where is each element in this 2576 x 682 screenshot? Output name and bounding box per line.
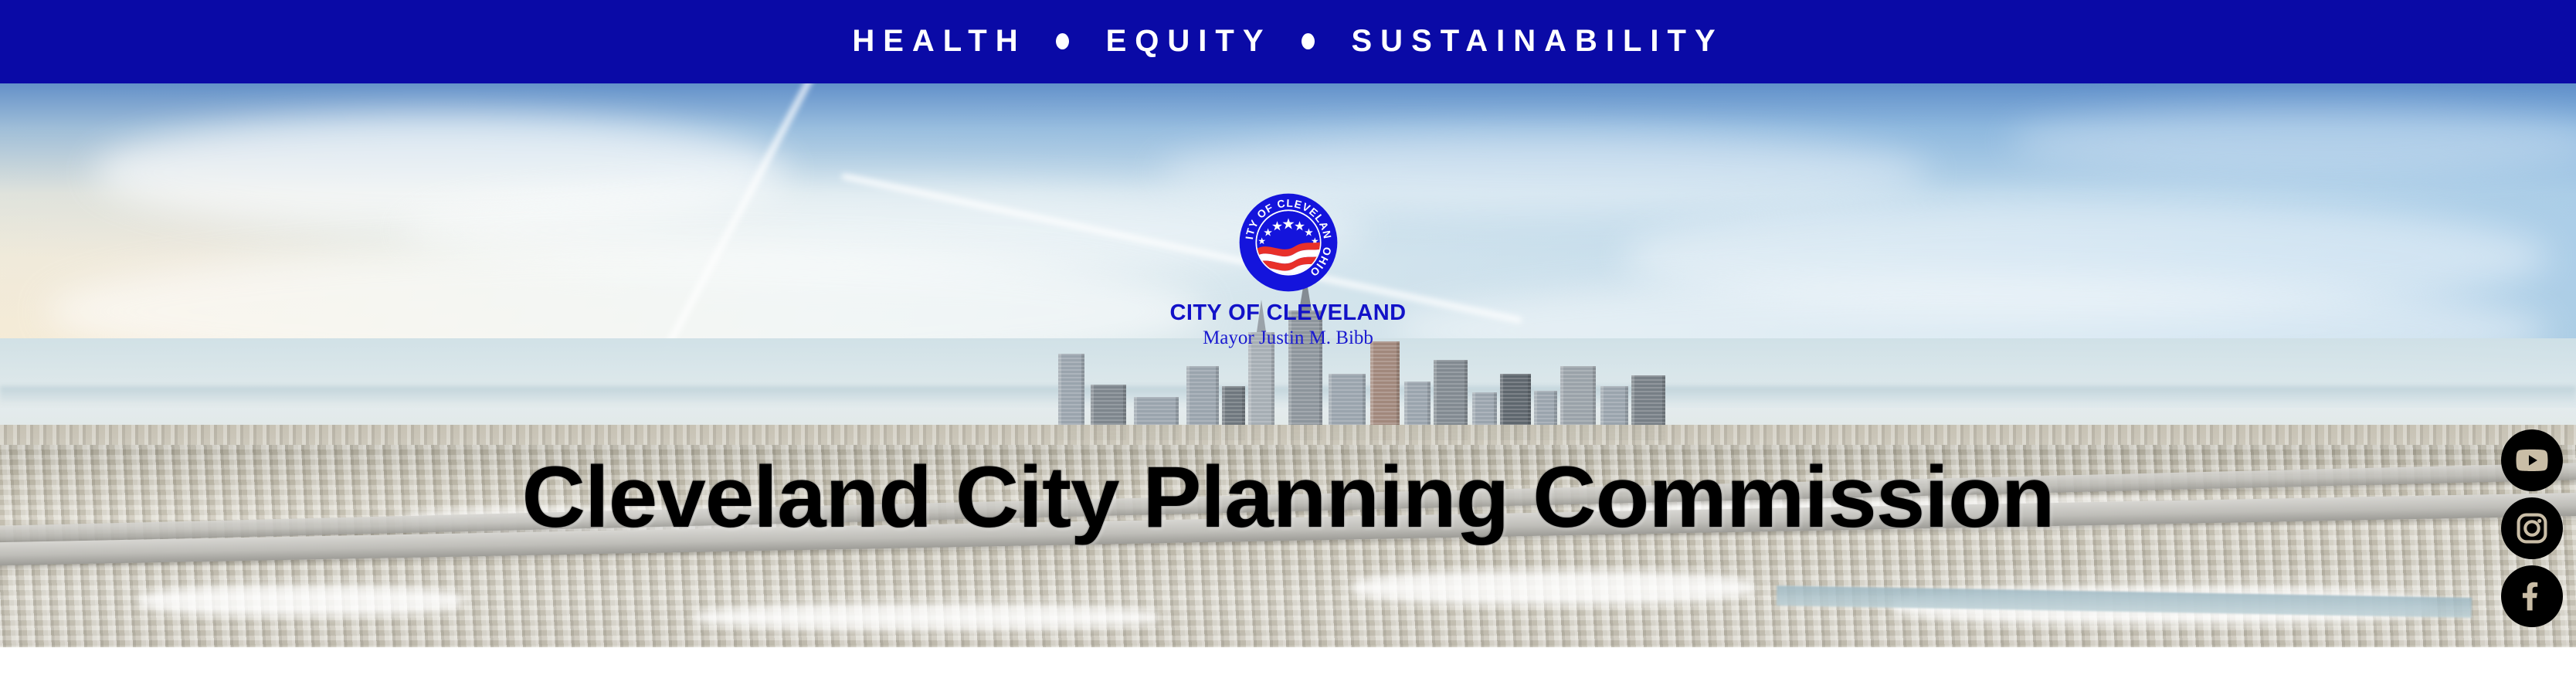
instagram-icon <box>2515 511 2549 545</box>
city-of-cleveland-seal-icon: CITY OF CLEVELAND OHIO <box>1237 192 1339 293</box>
slogan-word-equity: EQUITY <box>1106 25 1272 56</box>
slogan-list: HEALTH EQUITY SUSTAINABILITY <box>852 25 1723 56</box>
bullet-dot-icon <box>1056 33 1069 49</box>
top-slogan-banner: HEALTH EQUITY SUSTAINABILITY <box>0 0 2576 83</box>
mayor-name-label: Mayor Justin M. Bibb <box>1088 327 1489 350</box>
page-root: HEALTH EQUITY SUSTAINABILITY <box>0 0 2576 682</box>
bottom-white-strip <box>0 647 2576 682</box>
facebook-link[interactable] <box>2501 565 2563 627</box>
snow-patch <box>695 604 1159 630</box>
city-brand-block: CITY OF CLEVELAND OHIO <box>1088 182 1489 350</box>
youtube-icon <box>2514 443 2550 478</box>
snow-patch <box>139 585 463 616</box>
snow-patch <box>1352 571 1753 605</box>
youtube-link[interactable] <box>2501 429 2563 491</box>
facebook-icon <box>2515 579 2549 613</box>
slogan-word-health: HEALTH <box>852 25 1026 56</box>
social-links-rail <box>2499 429 2565 627</box>
bullet-dot-icon <box>1302 33 1315 49</box>
hero-photo: CITY OF CLEVELAND OHIO <box>0 83 2576 647</box>
slogan-word-sustainability: SUSTAINABILITY <box>1352 25 1724 56</box>
city-name-label: CITY OF CLEVELAND <box>1088 301 1489 326</box>
instagram-link[interactable] <box>2501 497 2563 559</box>
page-title: Cleveland City Planning Commission <box>0 454 2576 541</box>
